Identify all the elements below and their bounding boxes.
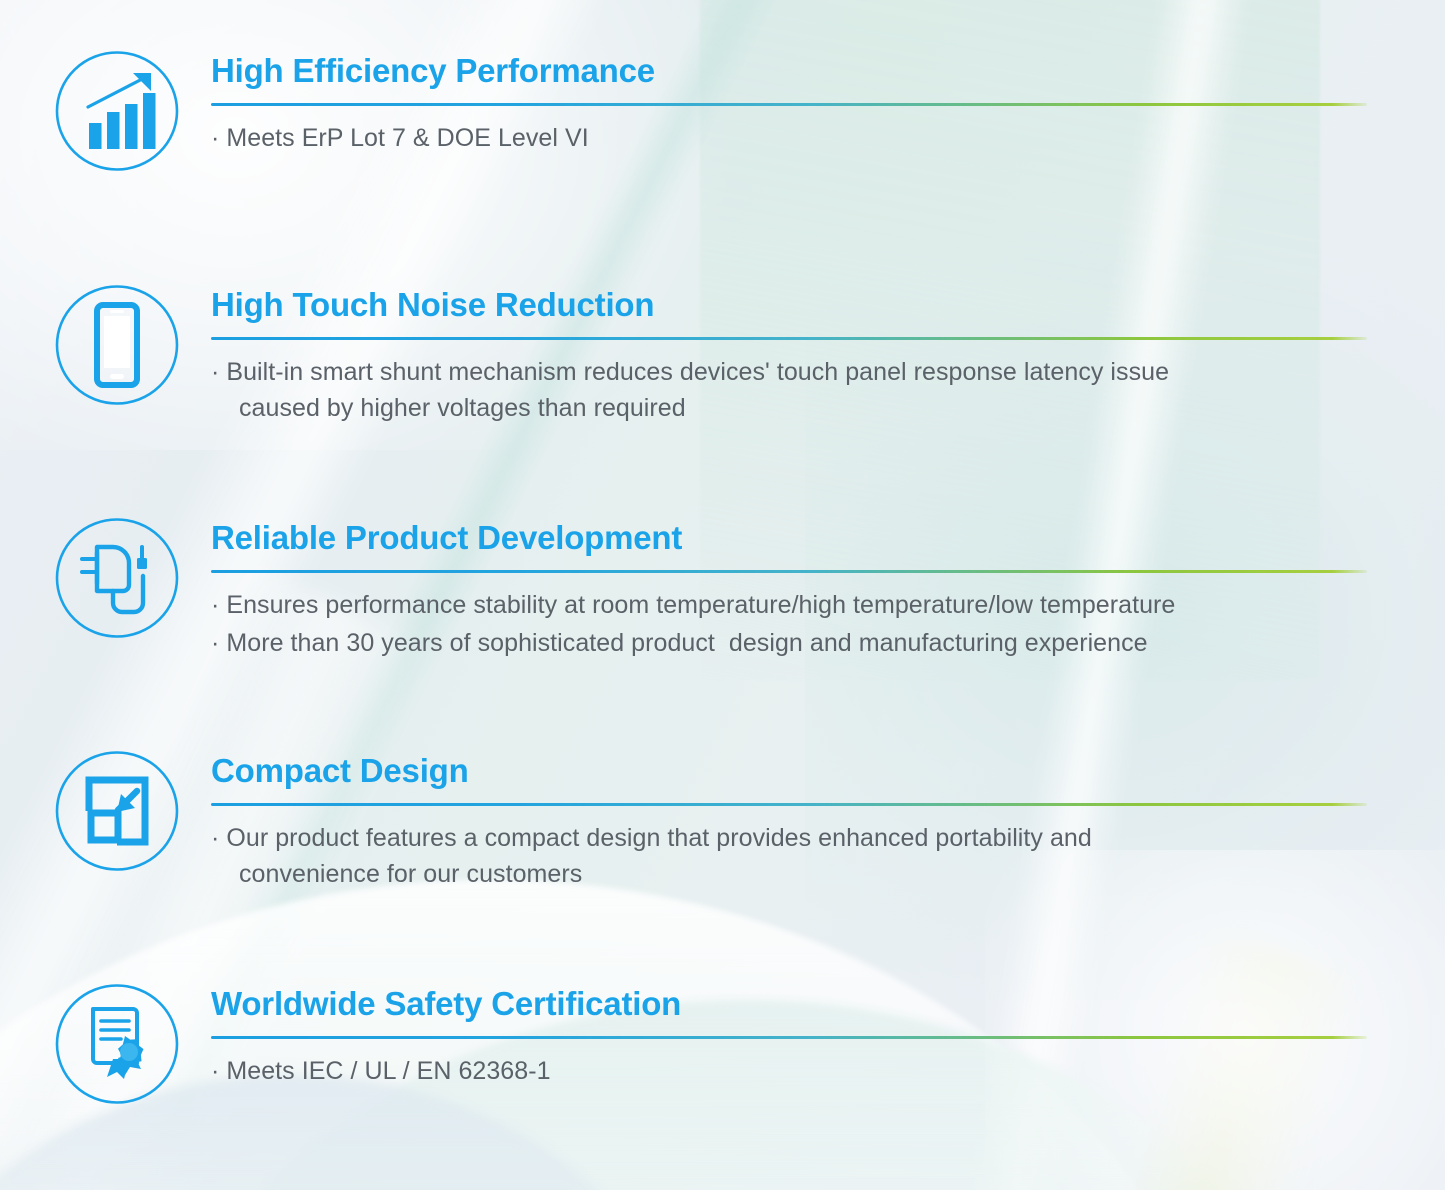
feature-bullets: · Our product features a compact design …	[211, 820, 1445, 893]
bullet-line: · Meets IEC / UL / EN 62368-1	[211, 1053, 1445, 1090]
feature-item-worldwide-safety-certification: Worldwide Safety Certification · Meets I…	[0, 983, 1445, 1105]
feature-bullets: · Built-in smart shunt mechanism reduces…	[211, 354, 1445, 427]
feature-title: Compact Design	[211, 754, 1445, 789]
feature-divider-rule	[211, 337, 1367, 340]
feature-divider-rule	[211, 803, 1367, 806]
feature-divider-rule	[211, 570, 1367, 573]
certificate-seal-icon	[55, 983, 179, 1105]
feature-item-high-touch-noise-reduction: High Touch Noise Reduction · Built-in sm…	[0, 284, 1445, 427]
bullet-line: · Meets ErP Lot 7 & DOE Level VI	[211, 120, 1445, 157]
power-adapter-icon	[55, 517, 179, 639]
feature-item-high-efficiency-performance: High Efficiency Performance · Meets ErP …	[0, 50, 1445, 172]
feature-body: Compact Design · Our product features a …	[211, 750, 1445, 893]
bullet-line: · More than 30 years of sophisticated pr…	[211, 625, 1445, 662]
feature-body: High Efficiency Performance · Meets ErP …	[211, 50, 1445, 156]
bullet-line: · Built-in smart shunt mechanism reduces…	[211, 354, 1445, 427]
feature-divider-rule	[211, 1036, 1367, 1039]
growth-bar-chart-icon	[55, 50, 179, 172]
smartphone-icon	[55, 284, 179, 406]
feature-item-reliable-product-development: Reliable Product Development · Ensures p…	[0, 517, 1445, 662]
bullet-line: · Our product features a compact design …	[211, 820, 1445, 893]
feature-bullets: · Meets IEC / UL / EN 62368-1	[211, 1053, 1445, 1090]
compact-resize-icon	[55, 750, 179, 872]
feature-bullets: · Meets ErP Lot 7 & DOE Level VI	[211, 120, 1445, 157]
feature-title: High Efficiency Performance	[211, 54, 1445, 89]
feature-body: High Touch Noise Reduction · Built-in sm…	[211, 284, 1445, 427]
feature-item-compact-design: Compact Design · Our product features a …	[0, 750, 1445, 893]
feature-title: Reliable Product Development	[211, 521, 1445, 556]
feature-title: Worldwide Safety Certification	[211, 987, 1445, 1022]
bullet-line: · Ensures performance stability at room …	[211, 587, 1445, 624]
feature-body: Worldwide Safety Certification · Meets I…	[211, 983, 1445, 1089]
feature-bullets: · Ensures performance stability at room …	[211, 587, 1445, 662]
feature-highlights-sheet: High Efficiency Performance · Meets ErP …	[0, 0, 1445, 1190]
feature-divider-rule	[211, 103, 1367, 106]
feature-title: High Touch Noise Reduction	[211, 288, 1445, 323]
feature-body: Reliable Product Development · Ensures p…	[211, 517, 1445, 662]
